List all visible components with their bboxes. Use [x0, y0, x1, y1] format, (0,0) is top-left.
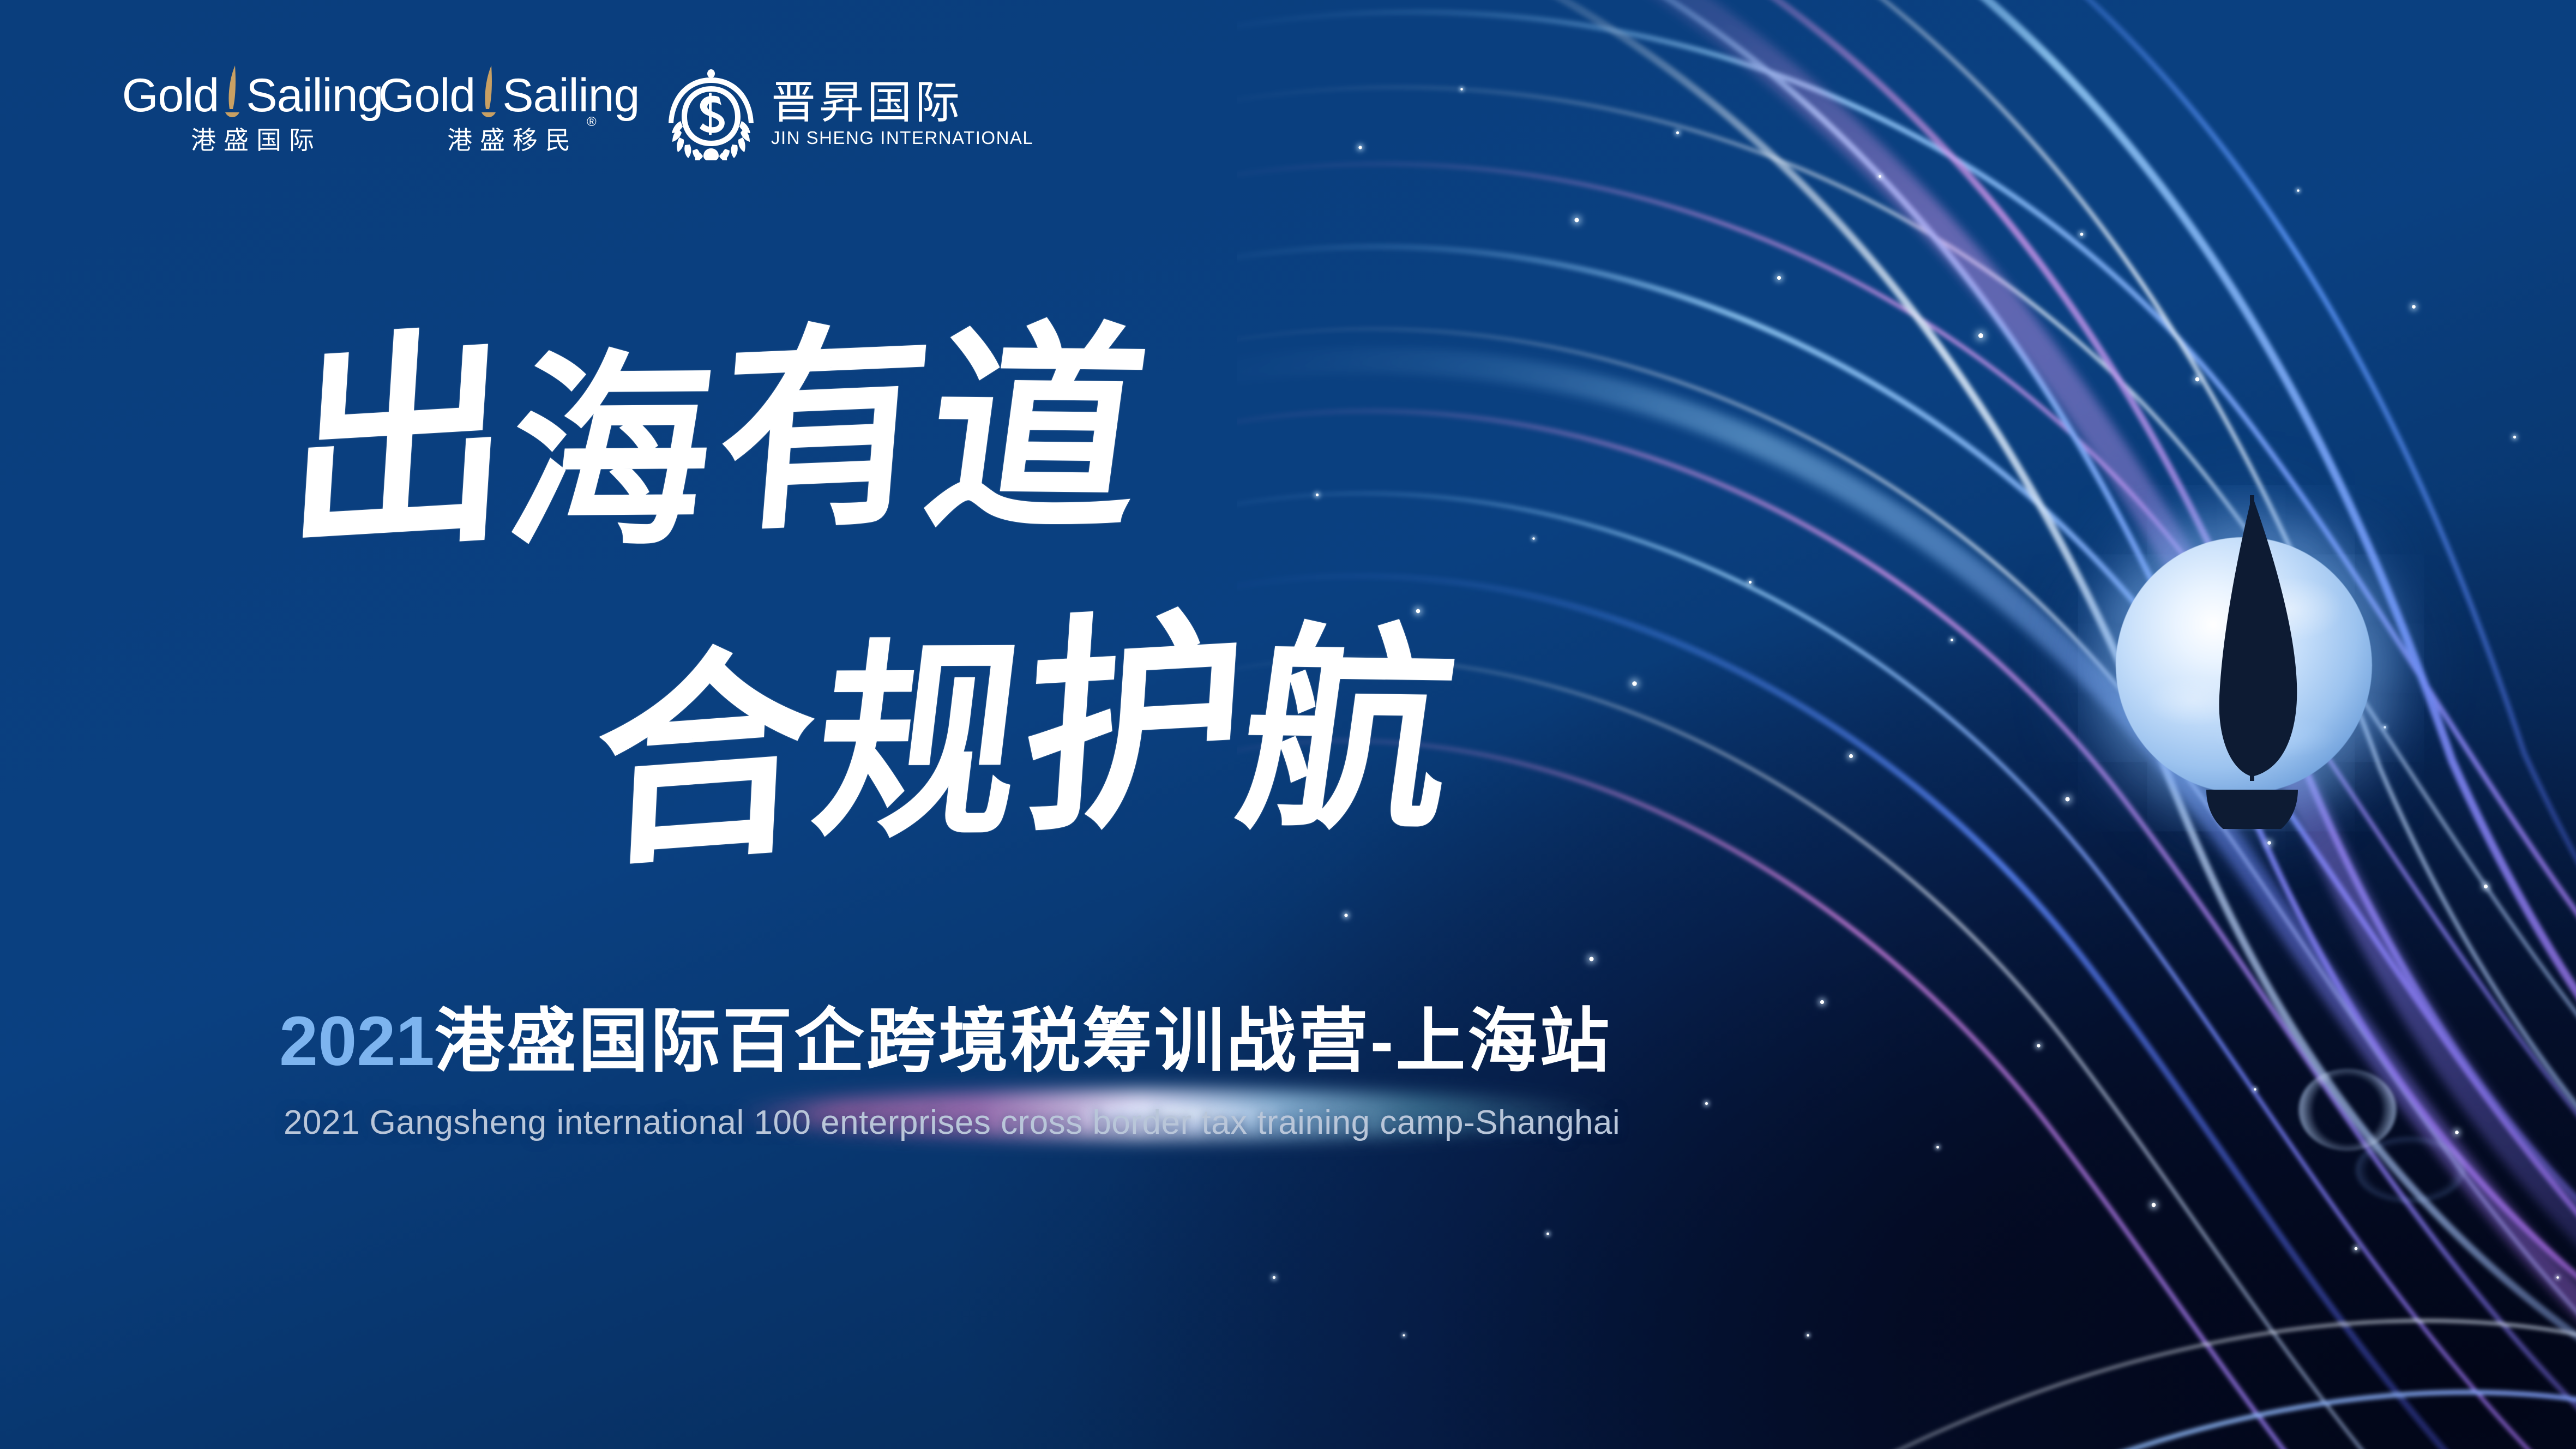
headline-char: 护 — [1018, 615, 1257, 834]
gold-sail-icon — [476, 64, 501, 121]
jin-sheng-en-name: JIN SHENG INTERNATIONAL — [771, 129, 1033, 147]
headline-char: 有 — [712, 328, 940, 532]
logo-jin-sheng-international[interactable]: 晋昇国际 JIN SHENG INTERNATIONAL — [664, 64, 1033, 160]
headline-char: 航 — [1231, 633, 1471, 831]
headline-line-1: 出海有道 — [284, 306, 1155, 567]
gold-sailing-wordmark: Gold Sailing — [124, 64, 381, 119]
logo-cn-name: 港盛移民® — [381, 128, 637, 153]
sailboat-icon — [2143, 480, 2361, 829]
gold-sailing-wordmark: Gold Sailing — [381, 64, 637, 119]
headline-char: 出 — [282, 334, 520, 554]
poster-canvas: Gold Sailing 港盛国际 Gold — [0, 0, 2576, 1449]
jin-sheng-emblem-icon — [664, 67, 758, 160]
subtitle-chinese: 2021港盛国际百企跨境税筹训战营-上海站 — [279, 1007, 1611, 1077]
wordmark-sailing: Sailing — [246, 72, 383, 119]
subtitle-english: 2021 Gangsheng international 100 enterpr… — [284, 1106, 1620, 1140]
headline-char: 合 — [591, 650, 824, 868]
logo-cn-name: 港盛国际 — [124, 128, 381, 153]
logo-bar: Gold Sailing 港盛国际 Gold — [124, 64, 1033, 160]
wordmark-sailing: Sailing — [502, 72, 639, 119]
wordmark-gold: Gold — [122, 72, 219, 119]
jin-sheng-cn-name: 晋昇国际 — [771, 81, 1033, 125]
wordmark-gold: Gold — [378, 72, 476, 119]
gold-sail-icon — [220, 64, 245, 121]
subtitle-year: 2021 — [279, 1002, 435, 1080]
subtitle-chinese-text: 港盛国际百企跨境税筹训战营-上海站 — [435, 1002, 1612, 1080]
jin-sheng-wordmark: 晋昇国际 JIN SHENG INTERNATIONAL — [771, 81, 1033, 147]
logo-gold-sailing-international[interactable]: Gold Sailing 港盛国际 — [124, 64, 381, 153]
headline-char: 道 — [917, 330, 1159, 532]
headline-char: 海 — [499, 359, 725, 548]
logo-cn-text: 港盛移民 — [447, 126, 578, 154]
headline-line-2: 合规护航 — [589, 606, 1470, 864]
headline-char: 规 — [806, 647, 1037, 839]
logo-gold-sailing-immigration[interactable]: Gold Sailing 港盛移民® — [381, 64, 637, 153]
registered-mark: ® — [579, 116, 597, 129]
